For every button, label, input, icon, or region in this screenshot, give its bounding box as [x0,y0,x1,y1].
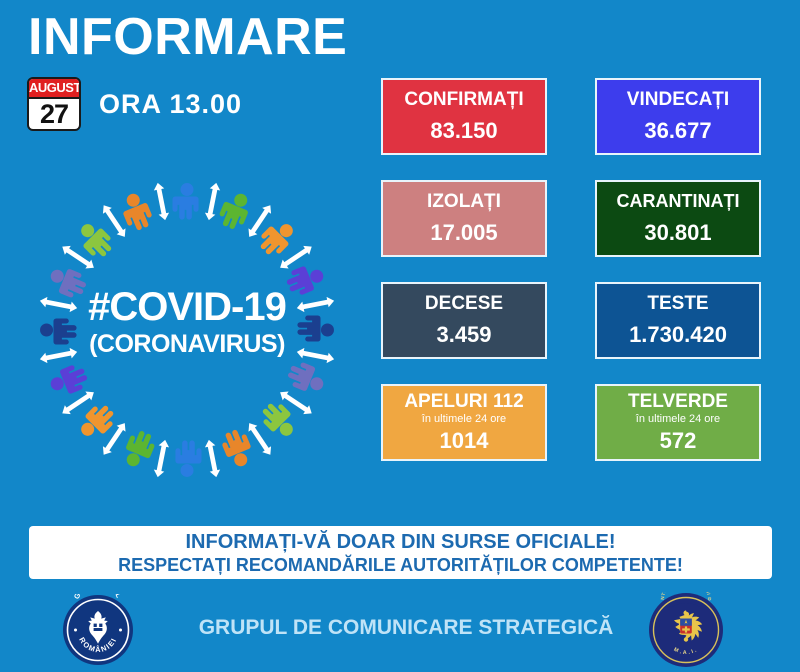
notice-line-2: RESPECTAȚI RECOMANDĂRILE AUTORITĂȚILOR C… [118,554,683,576]
calendar-day: 27 [29,99,79,129]
people-circle-icon: {} #COVID-19 (CORONAVIRUS) [22,165,352,495]
stat-value: 83.150 [430,117,497,145]
footer-bar: GUVERNUL ROMÂNIEI GRUPUL DE COMUNICAR [0,586,800,672]
stat-label: TESTE [647,292,708,315]
stat-box-telverde: TELVERDE în ultimele 24 ore 572 [595,384,761,461]
stat-box-confirmati: CONFIRMAȚI 83.150 [381,78,547,155]
guvernul-romaniei-seal-icon: GUVERNUL ROMÂNIEI [62,594,134,666]
stat-box-decese: DECESE 3.459 [381,282,547,359]
calendar-icon: AUGUST 27 [27,77,81,131]
stat-value: 30.801 [644,219,711,247]
stat-value: 3.459 [436,321,491,349]
hour-label: ORA 13.00 [99,89,242,120]
infographic-poster: INFORMARE AUGUST 27 ORA 13.00 {} [0,0,800,672]
stat-box-apeluri-112: APELURI 112 în ultimele 24 ore 1014 [381,384,547,461]
stat-value: 1.730.420 [629,321,727,349]
stat-label: APELURI 112 [404,390,523,413]
page-title: INFORMARE [28,6,347,68]
official-sources-notice: INFORMAȚI-VĂ DOAR DIN SURSE OFICIALE! RE… [29,526,772,579]
stats-grid: CONFIRMAȚI 83.150 VINDECAȚI 36.677 IZOLA… [381,78,761,461]
stat-value: 36.677 [644,117,711,145]
dsu-seal-icon: DEPARTAMENTUL PENTRU SITUAȚII DE URGENȚĂ… [648,592,724,668]
stat-value: 17.005 [430,219,497,247]
stat-label: TELVERDE [628,390,728,413]
date-row: AUGUST 27 ORA 13.00 [27,76,242,132]
stat-box-teste: TESTE 1.730.420 [595,282,761,359]
stat-value: 1014 [440,427,489,455]
stat-label: CONFIRMAȚI [404,88,523,111]
notice-line-1: INFORMAȚI-VĂ DOAR DIN SURSE OFICIALE! [186,530,616,554]
stat-label: CARANTINAȚI [617,190,740,213]
stat-label: DECESE [425,292,503,315]
stat-label: VINDECAȚI [627,88,729,111]
stat-note: în ultimele 24 ore [636,413,720,426]
stat-box-izolati: IZOLAȚI 17.005 [381,180,547,257]
stat-value: 572 [660,427,697,455]
stat-note: în ultimele 24 ore [422,413,506,426]
stat-box-carantinati: CARANTINAȚI 30.801 [595,180,761,257]
organization-name: GRUPUL DE COMUNICARE STRATEGICĂ [176,616,636,640]
calendar-month: AUGUST [29,79,79,99]
stat-label: IZOLAȚI [427,190,501,213]
stat-box-vindecati: VINDECAȚI 36.677 [595,78,761,155]
